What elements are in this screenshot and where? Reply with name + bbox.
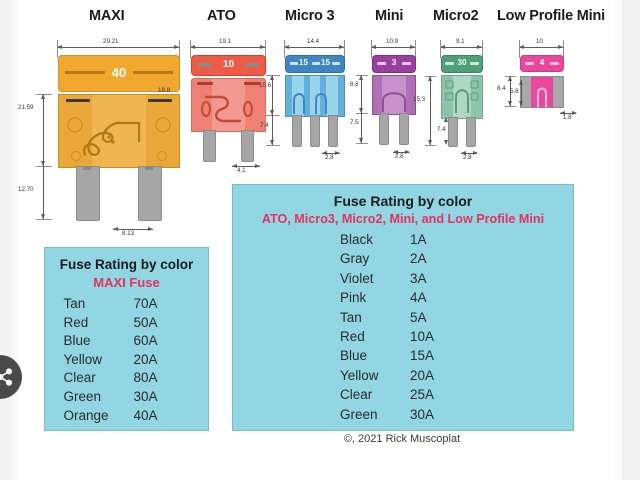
- maxi-cap-height-value: 18.8: [158, 87, 170, 94]
- ato-body-slot-left: [197, 82, 213, 85]
- micro2-height-arrow-down: [428, 140, 432, 145]
- micro3-width-dim-line: [284, 47, 344, 48]
- fuse-color-name: Tan: [340, 308, 410, 327]
- table-row: Red50A: [64, 314, 190, 333]
- lpmini-height2-value: 5.8: [510, 88, 519, 95]
- fuse-amp-rating: 10A: [410, 327, 434, 346]
- column-heading-ato: ATO: [207, 8, 236, 24]
- fuse-color-name: Gray: [340, 249, 410, 268]
- fuse-color-name: Blue: [340, 346, 410, 365]
- mini-leg-right: [399, 113, 409, 145]
- maxi-width-ext-left: [57, 40, 58, 58]
- mini-height-arrow-up: [359, 75, 363, 80]
- micro3-leg-mid: [310, 115, 320, 147]
- maxi-leg-width-value: 8.13: [122, 230, 134, 237]
- ato-width-ext-right: [265, 40, 266, 58]
- micro2-leg-length-value: 7.4: [437, 126, 446, 133]
- micro2-width-ext-right: [482, 40, 483, 58]
- ato-leg-width-value: 4.1: [237, 167, 246, 174]
- fuse-color-name: Green: [64, 388, 134, 407]
- ato-leg-width-arrow-right: [255, 164, 260, 168]
- maxi-fuse-element-graphic: [77, 111, 161, 163]
- maxi-leg-length-value: 12.70: [18, 186, 33, 193]
- micro3-cap-slot-right: [332, 62, 340, 65]
- micro2-body: [441, 75, 483, 119]
- fuse-amp-rating: 20A: [134, 351, 158, 370]
- table-row: Clear25A: [340, 385, 466, 404]
- lpmini-height-arrow-up: [508, 76, 512, 81]
- maxi-height-value: 21.59: [18, 104, 33, 111]
- micro3-fuse-element-graphic: [290, 86, 340, 116]
- column-heading-micro3: Micro 3: [285, 8, 334, 24]
- standard-table-subtitle: ATO, Micro3, Micro2, Mini, and Low Profi…: [233, 212, 573, 226]
- fuse-amp-rating: 3A: [410, 269, 427, 288]
- ato-fuse-element-graphic: [200, 93, 258, 125]
- fuse-amp-rating: 5A: [410, 308, 427, 327]
- fuse-amp-rating: 50A: [134, 314, 158, 333]
- maxi-body-hole-bottom-right: [155, 149, 169, 163]
- fuse-amp-rating: 4A: [410, 288, 427, 307]
- fuse-color-name: Clear: [64, 369, 134, 388]
- column-heading-micro2: Micro2: [433, 8, 479, 24]
- mini-fuse-element-graphic: [380, 88, 408, 114]
- micro2-cap-top-view: 30: [441, 55, 483, 73]
- lpmini-width-dim-line: [519, 47, 563, 48]
- micro2-height-arrow-up: [428, 76, 432, 81]
- ato-width-ext-left: [190, 40, 191, 58]
- micro3-height-dim-line: [272, 75, 273, 115]
- fuse-amp-rating: 20A: [410, 366, 434, 385]
- mini-leg-length-value: 7.5: [350, 119, 359, 126]
- mini-leg-width-value: 2.8: [395, 153, 404, 160]
- maxi-leg-ext-bottom: [36, 219, 52, 220]
- maxi-table-subtitle: MAXI Fuse: [45, 275, 208, 290]
- micro3-height-arrow-up: [270, 75, 274, 80]
- maxi-table-title: Fuse Rating by color: [45, 257, 208, 272]
- ato-body-slot-right: [244, 82, 260, 85]
- mini-leg-arrow-down: [359, 138, 363, 143]
- lpmini-width-ext-right: [563, 40, 564, 58]
- maxi-height-dim-line: [43, 94, 44, 166]
- lpmini-leg-width-value: 1.8: [563, 114, 572, 121]
- micro3-height-ext-bottom: [266, 115, 280, 116]
- maxi-leg-left: [76, 166, 100, 221]
- table-row: Pink4A: [340, 288, 466, 307]
- maxi-leg-left-notch: [83, 167, 91, 170]
- column-heading-maxi: MAXI: [89, 8, 124, 24]
- maxi-body-hole-bottom-left: [69, 149, 83, 163]
- lpmini-height-ext-bottom: [505, 106, 516, 107]
- fuse-amp-rating: 25A: [410, 385, 434, 404]
- mini-leg-ext-bottom: [356, 143, 368, 144]
- page-left-gutter: [0, 0, 12, 480]
- table-row: Green30A: [340, 405, 466, 424]
- micro2-width-value: 9.1: [456, 38, 465, 45]
- mini-height-value: 8.8: [350, 81, 359, 88]
- lpmini-cap-top-view: 4: [520, 55, 564, 72]
- maxi-leg-dim-line: [43, 166, 44, 219]
- ato-body: [191, 78, 266, 132]
- table-row: Orange40A: [64, 407, 190, 426]
- maxi-body-slot-right: [148, 99, 172, 102]
- mini-cap-top-view: 3: [372, 55, 416, 73]
- micro2-cap-amp-label: 30: [442, 58, 482, 67]
- ato-width-dim-line: [190, 47, 265, 48]
- micro3-width-ext-right: [344, 40, 345, 58]
- ato-cap-amp-label: 10: [192, 59, 265, 70]
- maxi-height-arrow-up: [41, 94, 45, 99]
- column-heading-lpmini: Low Profile Mini: [497, 8, 605, 24]
- fuse-amp-rating: 70A: [134, 295, 158, 314]
- mini-width-value: 10.9: [386, 38, 398, 45]
- fuse-amp-rating: 80A: [134, 369, 158, 388]
- table-row: Yellow20A: [64, 351, 190, 370]
- lpmini-fuse-element-graphic: [534, 85, 550, 107]
- mini-leg-width-arrow-right: [405, 150, 410, 154]
- table-row: Blue15A: [340, 346, 466, 365]
- mini-cap-amp-label: 3: [373, 58, 415, 67]
- lpmini-height2-arrow-down: [519, 101, 523, 106]
- fuse-amp-rating: 1A: [410, 230, 427, 249]
- ato-leg-right: [241, 130, 254, 162]
- fuse-amp-rating: 30A: [410, 405, 434, 424]
- micro3-width-value: 14.4: [307, 38, 319, 45]
- micro3-leg-length-value: 7.4: [260, 122, 269, 129]
- copyright-text: ©, 2021 Rick Muscoplat: [232, 433, 572, 445]
- mini-width-dim-line: [371, 47, 415, 48]
- table-row: Yellow20A: [340, 366, 466, 385]
- page-right-gutter: [621, 0, 640, 480]
- standard-table-rows: Black1AGray2AViolet3APink4ATan5ARed10ABl…: [340, 230, 466, 424]
- mini-height-ext-bottom: [356, 113, 368, 114]
- lpmini-height2-arrow-up: [519, 80, 523, 85]
- micro2-height-value: 15.3: [413, 96, 425, 103]
- table-row: Green30A: [64, 388, 190, 407]
- micro3-cap-top-view: 15 15: [285, 55, 345, 73]
- table-row: Tan70A: [64, 295, 190, 314]
- maxi-body-hole-top-right: [153, 115, 173, 135]
- micro3-cap-amp-label-right: 15: [321, 58, 330, 67]
- maxi-width-ext-right: [179, 40, 180, 58]
- page-right-gutter-inner: [614, 0, 622, 480]
- fuse-amp-rating: 60A: [134, 332, 158, 351]
- ato-width-value: 19.1: [219, 38, 231, 45]
- ato-leg-left: [203, 130, 216, 162]
- micro2-height-dim-line: [430, 76, 431, 145]
- mini-leg-left: [379, 113, 389, 145]
- fuse-color-name: Yellow: [340, 366, 410, 385]
- fuse-color-name: Orange: [64, 407, 134, 426]
- table-row: Blue60A: [64, 332, 190, 351]
- table-row: Red10A: [340, 327, 466, 346]
- micro2-width-dim-line: [440, 47, 482, 48]
- standard-table-title: Fuse Rating by color: [233, 193, 573, 209]
- fuse-color-name: Yellow: [64, 351, 134, 370]
- table-row: Gray2A: [340, 249, 466, 268]
- maxi-rating-table: Fuse Rating by color MAXI Fuse Tan70ARed…: [44, 247, 209, 431]
- maxi-leg-width-arrow-right: [148, 227, 153, 231]
- mini-width-ext-right: [415, 40, 416, 58]
- micro3-cap-slot-mid: [312, 62, 320, 65]
- micro3-leg-arrow-down: [270, 140, 274, 145]
- table-row: Black1A: [340, 230, 466, 249]
- lpmini-cap-amp-label: 4: [521, 58, 563, 67]
- micro3-cap-slot-left: [290, 62, 298, 65]
- micro3-leg-left: [292, 115, 302, 147]
- fuse-color-name: Red: [64, 314, 134, 333]
- micro3-cap-amp-label-left: 15: [299, 58, 308, 67]
- fuse-amp-rating: 40A: [134, 407, 158, 426]
- table-row: Tan5A: [340, 308, 466, 327]
- micro2-leg-left: [448, 117, 458, 147]
- maxi-height-ext-bottom: [36, 166, 52, 167]
- mini-body: [372, 75, 416, 115]
- micro2-leg-width-arrow-right: [473, 151, 478, 155]
- lpmini-leg-width-arrow-right: [572, 111, 577, 115]
- maxi-width-value: 29.21: [103, 38, 118, 45]
- maxi-leg-right: [138, 166, 162, 221]
- maxi-leg-width-arrow-left: [113, 227, 118, 231]
- fuse-color-name: Green: [340, 405, 410, 424]
- fuse-color-name: Blue: [64, 332, 134, 351]
- lpmini-height-value: 8.4: [497, 85, 506, 92]
- lpmini-height-arrow-down: [508, 101, 512, 106]
- maxi-body-hole-top-left: [65, 115, 85, 135]
- ato-cap-top-view: 10: [191, 55, 266, 76]
- table-row: Clear80A: [64, 369, 190, 388]
- micro2-leg-width-value: 2.8: [463, 154, 472, 161]
- fuse-color-name: Black: [340, 230, 410, 249]
- maxi-body: [58, 94, 180, 168]
- micro2-leg-arrow-up: [444, 117, 448, 122]
- fuse-color-name: Violet: [340, 269, 410, 288]
- maxi-leg-right-notch: [145, 167, 153, 170]
- fuse-color-name: Tan: [64, 295, 134, 314]
- micro3-width-ext-left: [284, 40, 285, 58]
- standard-rating-table: Fuse Rating by color ATO, Micro3, Micro2…: [232, 184, 574, 431]
- maxi-leg-arrow-down: [41, 214, 45, 219]
- micro2-height-ext-bottom: [425, 145, 436, 146]
- maxi-body-slot-left: [66, 99, 90, 102]
- fuse-amp-rating: 15A: [410, 346, 434, 365]
- micro2-width-ext-left: [440, 40, 441, 58]
- share-icon[interactable]: [0, 355, 22, 399]
- column-heading-mini: Mini: [375, 8, 403, 24]
- page-left-gutter-inner: [12, 0, 18, 480]
- maxi-width-dim-line: [57, 47, 179, 48]
- maxi-cap-amp-label: 40: [59, 65, 179, 80]
- mini-width-ext-left: [371, 40, 372, 58]
- fuse-color-name: Clear: [340, 385, 410, 404]
- micro2-leg-arrow-down: [444, 140, 448, 145]
- fuse-color-name: Pink: [340, 288, 410, 307]
- fuse-size-chart-page: MAXI ATO Micro 3 Mini Micro2 Low Profile…: [0, 0, 640, 480]
- fuse-amp-rating: 30A: [134, 388, 158, 407]
- micro3-body: [285, 75, 345, 117]
- micro3-leg-ext-bottom: [266, 145, 280, 146]
- micro3-leg-width-value: 2.8: [325, 154, 334, 161]
- lpmini-body: [520, 76, 564, 108]
- micro2-leg-right: [466, 117, 476, 147]
- micro3-height-value: 10.6: [259, 82, 271, 89]
- micro3-leg-right: [328, 115, 338, 147]
- table-row: Violet3A: [340, 269, 466, 288]
- micro2-fuse-element-graphic: [444, 79, 480, 115]
- micro3-leg-width-arrow-right: [335, 151, 340, 155]
- lpmini-width-value: 10: [536, 38, 543, 45]
- fuse-color-name: Red: [340, 327, 410, 346]
- fuse-amp-rating: 2A: [410, 249, 427, 268]
- maxi-table-rows: Tan70ARed50ABlue60AYellow20AClear80AGree…: [64, 295, 190, 425]
- lpmini-width-ext-left: [519, 40, 520, 58]
